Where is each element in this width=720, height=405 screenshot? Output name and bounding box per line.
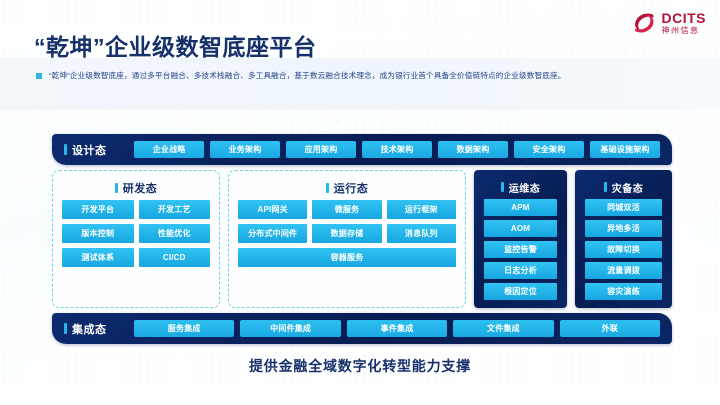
chip-design-4[interactable]: 数据架构 xyxy=(438,141,508,158)
accent-tick-icon xyxy=(115,183,118,193)
chip-design-6[interactable]: 基础设施架构 xyxy=(590,141,660,158)
brand-name-cn: 神州信息 xyxy=(662,27,707,35)
page-title: “乾坤”企业级数智底座平台 xyxy=(34,28,317,62)
dr-panel-title: 灾备态 xyxy=(612,180,644,195)
chip-design-0[interactable]: 企业战略 xyxy=(134,141,204,158)
dev-panel-header: 研发态 xyxy=(53,176,219,200)
cell-dr-0[interactable]: 同城双活 xyxy=(585,199,662,216)
brand-wordmark: DCITS 神州信息 xyxy=(662,11,707,35)
dev-panel-title: 研发态 xyxy=(123,180,158,196)
design-row-label-text: 设计态 xyxy=(72,142,107,158)
chip-integration-2[interactable]: 事件集成 xyxy=(347,320,447,337)
run-panel-title: 运行态 xyxy=(334,180,369,196)
cell-run-0[interactable]: API网关 xyxy=(238,200,307,219)
integration-row: 集成态 服务集成 中间件集成 事件集成 文件集成 外联 xyxy=(52,313,672,344)
swirl-logo-icon xyxy=(631,10,657,36)
cell-run-1[interactable]: 微服务 xyxy=(312,200,381,219)
run-panel: 运行态 API网关 微服务 运行框架 分布式中间件 数据存储 消息队列 容器服务 xyxy=(228,170,466,308)
dev-panel: 研发态 开发平台 开发工艺 版本控制 性能优化 测试体系 CI/CD xyxy=(52,170,220,308)
ops-panel-stack: APM AOM 监控告警 日志分析 根因定位 xyxy=(474,199,567,300)
integration-row-label-text: 集成态 xyxy=(72,321,107,337)
integration-row-chips: 服务集成 中间件集成 事件集成 文件集成 外联 xyxy=(134,320,672,337)
cell-dev-2[interactable]: 版本控制 xyxy=(62,224,134,243)
cell-run-5[interactable]: 消息队列 xyxy=(387,224,456,243)
design-row: 设计态 企业战略 业务架构 应用架构 技术架构 数据架构 安全架构 基础设施架构 xyxy=(52,134,672,165)
brand-name-en: DCITS xyxy=(662,11,707,25)
brand-logo: DCITS 神州信息 xyxy=(631,10,707,36)
disaster-recovery-panel: 灾备态 同城双活 异地多活 故障切换 流量调拨 容灾演练 xyxy=(575,170,672,308)
accent-tick-icon xyxy=(501,182,504,192)
run-panel-header: 运行态 xyxy=(229,176,465,200)
square-bullet-icon xyxy=(36,73,42,79)
accent-tick-icon xyxy=(64,323,67,334)
cell-ops-3[interactable]: 日志分析 xyxy=(484,262,557,279)
chip-integration-3[interactable]: 文件集成 xyxy=(453,320,553,337)
cell-dr-2[interactable]: 故障切换 xyxy=(585,241,662,258)
chip-design-2[interactable]: 应用架构 xyxy=(286,141,356,158)
cell-dev-3[interactable]: 性能优化 xyxy=(139,224,211,243)
design-row-label: 设计态 xyxy=(52,142,134,158)
subtitle: “乾坤”企业级数智底座，通过多平台融合、多技术栈融合、多工具融合，基于数云融合技… xyxy=(36,70,565,81)
design-row-chips: 企业战略 业务架构 应用架构 技术架构 数据架构 安全架构 基础设施架构 xyxy=(134,141,672,158)
cell-dev-4[interactable]: 测试体系 xyxy=(62,248,134,267)
chip-integration-1[interactable]: 中间件集成 xyxy=(240,320,340,337)
accent-tick-icon xyxy=(604,182,607,192)
diagram-middle-section: 研发态 开发平台 开发工艺 版本控制 性能优化 测试体系 CI/CD 运行态 xyxy=(52,170,672,308)
chip-design-1[interactable]: 业务架构 xyxy=(210,141,280,158)
integration-row-label: 集成态 xyxy=(52,321,134,337)
dr-panel-stack: 同城双活 异地多活 故障切换 流量调拨 容灾演练 xyxy=(575,199,672,300)
cell-dr-3[interactable]: 流量调拨 xyxy=(585,262,662,279)
ops-panel-header: 运维态 xyxy=(474,175,567,199)
accent-tick-icon xyxy=(64,144,67,155)
chip-integration-4[interactable]: 外联 xyxy=(560,320,660,337)
cell-run-container-service[interactable]: 容器服务 xyxy=(238,248,456,267)
cell-run-3[interactable]: 分布式中间件 xyxy=(238,224,307,243)
cell-dev-0[interactable]: 开发平台 xyxy=(62,200,134,219)
cell-dr-4[interactable]: 容灾演练 xyxy=(585,283,662,300)
cell-ops-0[interactable]: APM xyxy=(484,199,557,216)
architecture-diagram: 设计态 企业战略 业务架构 应用架构 技术架构 数据架构 安全架构 基础设施架构… xyxy=(52,134,672,344)
run-panel-grid: API网关 微服务 运行框架 分布式中间件 数据存储 消息队列 容器服务 xyxy=(229,200,465,267)
dr-panel-header: 灾备态 xyxy=(575,175,672,199)
chip-design-3[interactable]: 技术架构 xyxy=(362,141,432,158)
chip-integration-0[interactable]: 服务集成 xyxy=(134,320,234,337)
cell-run-2[interactable]: 运行框架 xyxy=(387,200,456,219)
footer-tagline: 提供金融全域数字化转型能力支撑 xyxy=(0,356,720,376)
cell-run-4[interactable]: 数据存储 xyxy=(312,224,381,243)
cell-dev-5[interactable]: CI/CD xyxy=(139,248,211,267)
accent-tick-icon xyxy=(326,183,329,193)
slide-stage: DCITS 神州信息 “乾坤”企业级数智底座平台 “乾坤”企业级数智底座，通过多… xyxy=(0,0,720,405)
dev-panel-grid: 开发平台 开发工艺 版本控制 性能优化 测试体系 CI/CD xyxy=(53,200,219,267)
chip-design-5[interactable]: 安全架构 xyxy=(514,141,584,158)
ops-panel: 运维态 APM AOM 监控告警 日志分析 根因定位 xyxy=(474,170,567,308)
subtitle-text: “乾坤”企业级数智底座，通过多平台融合、多技术栈融合、多工具融合，基于数云融合技… xyxy=(49,70,565,81)
cell-ops-1[interactable]: AOM xyxy=(484,220,557,237)
cell-dev-1[interactable]: 开发工艺 xyxy=(139,200,211,219)
cell-ops-2[interactable]: 监控告警 xyxy=(484,241,557,258)
ops-panel-title: 运维态 xyxy=(509,180,541,195)
cell-ops-4[interactable]: 根因定位 xyxy=(484,283,557,300)
cell-dr-1[interactable]: 异地多活 xyxy=(585,220,662,237)
